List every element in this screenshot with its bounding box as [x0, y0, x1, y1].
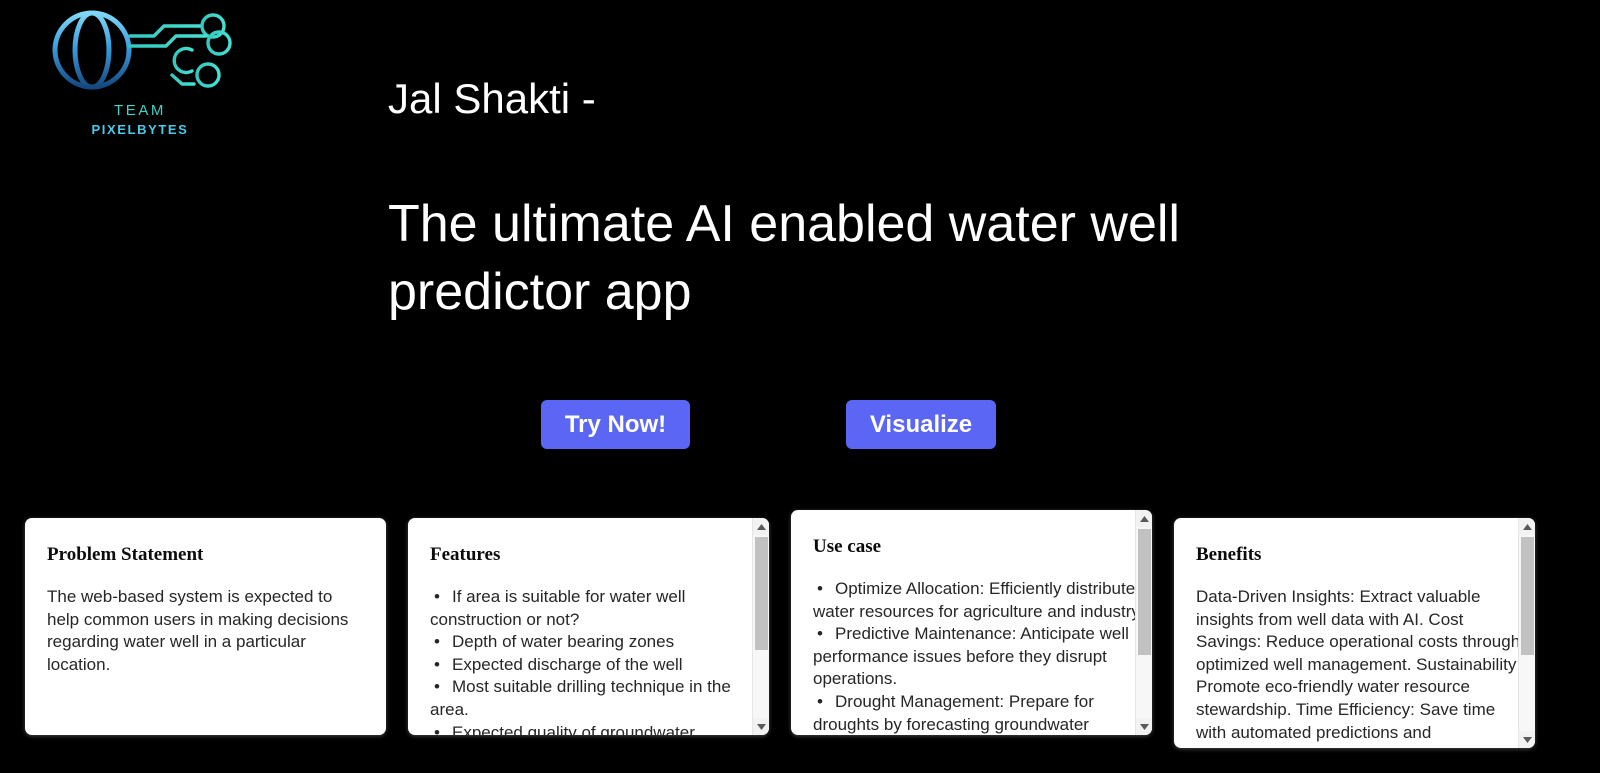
globe-circuit-icon: TEAM PIXELBYTES [30, 2, 250, 142]
visualize-button[interactable]: Visualize [846, 400, 996, 449]
list-item-label: Drought Management: Prepare for droughts… [813, 692, 1094, 734]
bullet-icon: • [813, 578, 835, 601]
scrollbar-track[interactable] [753, 535, 770, 718]
card-body: •Optimize Allocation: Efficiently distri… [813, 578, 1144, 735]
list-item: •Optimize Allocation: Efficiently distri… [813, 578, 1144, 623]
list-item-label: Predictive Maintenance: Anticipate well … [813, 624, 1129, 688]
list-item-label: If area is suitable for water well const… [430, 587, 685, 629]
card-content: Problem Statement The web-based system i… [25, 518, 386, 735]
card-content: Use case •Optimize Allocation: Efficient… [791, 510, 1152, 735]
list-item: •Expected quality of groundwater [430, 722, 761, 735]
bullet-icon: • [430, 676, 452, 699]
card-use-case[interactable]: Use case •Optimize Allocation: Efficient… [791, 510, 1152, 735]
logo-line1: TEAM [114, 102, 166, 119]
bullet-icon: • [430, 631, 452, 654]
card-scrollbar[interactable] [1518, 518, 1535, 748]
card-scrollbar[interactable] [1135, 510, 1152, 735]
list-item-label: Expected quality of groundwater [452, 723, 695, 735]
list-item: •Drought Management: Prepare for drought… [813, 691, 1144, 735]
list-item-label: Optimize Allocation: Efficiently distrib… [813, 579, 1143, 621]
logo-line2: PIXELBYTES [92, 122, 189, 137]
card-title: Features [430, 544, 761, 566]
bullet-icon: • [813, 623, 835, 646]
caret-down-icon[interactable] [1519, 731, 1536, 748]
list-item-label: Depth of water bearing zones [452, 632, 674, 651]
card-body: The web-based system is expected to help… [47, 586, 364, 676]
button-spacer [690, 400, 846, 401]
caret-down-icon[interactable] [1136, 718, 1153, 735]
list-item-label: Most suitable drilling technique in the … [430, 677, 731, 719]
caret-up-icon[interactable] [1519, 518, 1536, 535]
hero-section: Jal Shakti - The ultimate AI enabled wat… [388, 70, 1208, 326]
card-paragraph: Data-Driven Insights: Extract valuable i… [1196, 586, 1527, 748]
scrollbar-thumb[interactable] [755, 537, 768, 650]
caret-down-icon[interactable] [753, 718, 770, 735]
card-benefits[interactable]: Benefits Data-Driven Insights: Extract v… [1174, 518, 1535, 748]
caret-up-icon[interactable] [1136, 510, 1153, 527]
scrollbar-thumb[interactable] [1521, 537, 1534, 655]
list-item: •Predictive Maintenance: Anticipate well… [813, 623, 1144, 691]
landing-page: TEAM PIXELBYTES Jal Shakti - The ultimat… [0, 0, 1600, 773]
scrollbar-track[interactable] [1519, 535, 1536, 731]
card-title: Benefits [1196, 544, 1527, 566]
hero-kicker: Jal Shakti - [388, 70, 1208, 128]
card-content: Benefits Data-Driven Insights: Extract v… [1174, 518, 1535, 748]
page-title: The ultimate AI enabled water well predi… [388, 190, 1188, 326]
card-body: Data-Driven Insights: Extract valuable i… [1196, 586, 1527, 748]
list-item: •Depth of water bearing zones [430, 631, 761, 654]
card-body: •If area is suitable for water well cons… [430, 586, 761, 735]
bullet-icon: • [430, 586, 452, 609]
card-problem-statement[interactable]: Problem Statement The web-based system i… [25, 518, 386, 735]
try-now-button[interactable]: Try Now! [541, 400, 690, 449]
caret-up-icon[interactable] [753, 518, 770, 535]
bullet-icon: • [813, 691, 835, 714]
list-item-label: Expected discharge of the well [452, 655, 683, 674]
brand-logo[interactable]: TEAM PIXELBYTES [30, 2, 250, 142]
bullet-icon: • [430, 722, 452, 735]
card-title: Use case [813, 536, 1144, 558]
list-item: •If area is suitable for water well cons… [430, 586, 761, 631]
list-item: •Most suitable drilling technique in the… [430, 676, 761, 721]
card-title: Problem Statement [47, 544, 364, 566]
card-scrollbar[interactable] [752, 518, 769, 735]
card-paragraph: The web-based system is expected to help… [47, 586, 364, 676]
list-item: •Expected discharge of the well [430, 654, 761, 677]
bullet-icon: • [430, 654, 452, 677]
card-features[interactable]: Features •If area is suitable for water … [408, 518, 769, 735]
scrollbar-thumb[interactable] [1138, 529, 1151, 655]
cta-button-row: Try Now! Visualize [541, 400, 996, 449]
card-content: Features •If area is suitable for water … [408, 518, 769, 735]
scrollbar-track[interactable] [1136, 527, 1153, 718]
